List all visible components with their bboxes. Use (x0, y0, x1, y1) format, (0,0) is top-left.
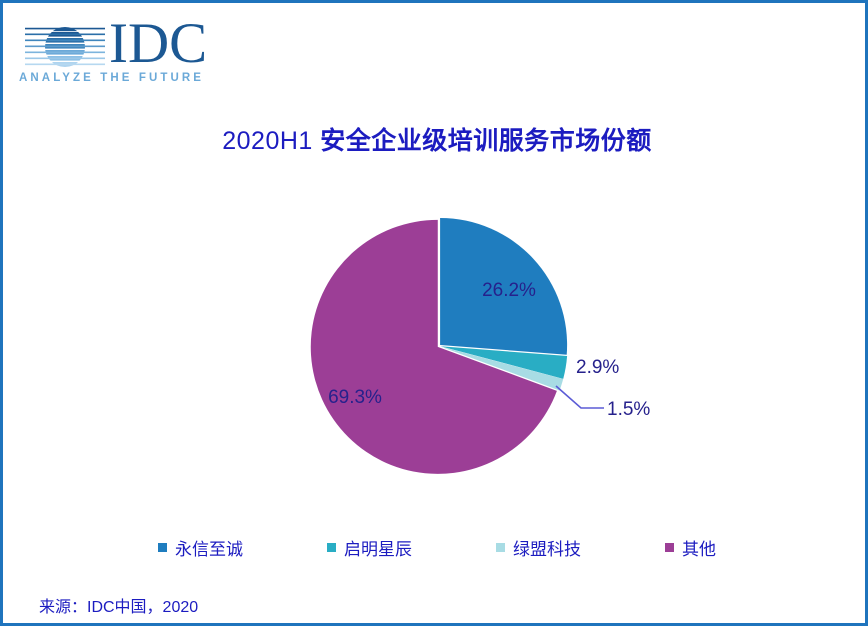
idc-globe-icon (23, 23, 107, 71)
pie-label-qimingxingchen: 2.9% (576, 357, 619, 378)
pie-chart: 26.2% 2.9% 1.5% 69.3% (3, 173, 868, 523)
legend-swatch-icon (665, 543, 674, 552)
legend-label: 其他 (682, 535, 716, 560)
idc-wordmark: IDC (109, 15, 207, 72)
chart-frame: IDC ANALYZE THE FUTURE 2020H1 安全企业级培训服务市… (0, 0, 868, 626)
legend-label: 启明星辰 (344, 535, 412, 560)
idc-tagline: ANALYZE THE FUTURE (19, 72, 204, 84)
legend-swatch-icon (496, 543, 505, 552)
source-note: 来源：IDC中国，2020 (39, 593, 198, 617)
chart-title-main: 安全企业级培训服务市场份额 (313, 127, 652, 155)
pie-label-lvmengkeji: 1.5% (607, 399, 650, 420)
legend-label: 永信至诚 (175, 535, 243, 560)
idc-logo: IDC ANALYZE THE FUTURE (17, 19, 217, 95)
chart-title: 2020H1 安全企业级培训服务市场份额 (3, 121, 868, 157)
pie-label-qita: 69.3% (328, 387, 382, 408)
legend-item-qita[interactable]: 其他 (665, 535, 716, 560)
legend-item-lvmengkeji[interactable]: 绿盟科技 (496, 535, 581, 560)
legend-swatch-icon (327, 543, 336, 552)
chart-legend: 永信至诚 启明星辰 绿盟科技 其他 (3, 535, 868, 560)
pie-label-yongxinzhicheng: 26.2% (482, 280, 536, 301)
legend-swatch-icon (158, 543, 167, 552)
leader-line-1-5 (556, 386, 604, 408)
legend-item-qimingxingchen[interactable]: 启明星辰 (327, 535, 412, 560)
chart-title-year: 2020H1 (222, 127, 313, 155)
legend-item-yongxinzhicheng[interactable]: 永信至诚 (158, 535, 243, 560)
legend-label: 绿盟科技 (513, 535, 581, 560)
